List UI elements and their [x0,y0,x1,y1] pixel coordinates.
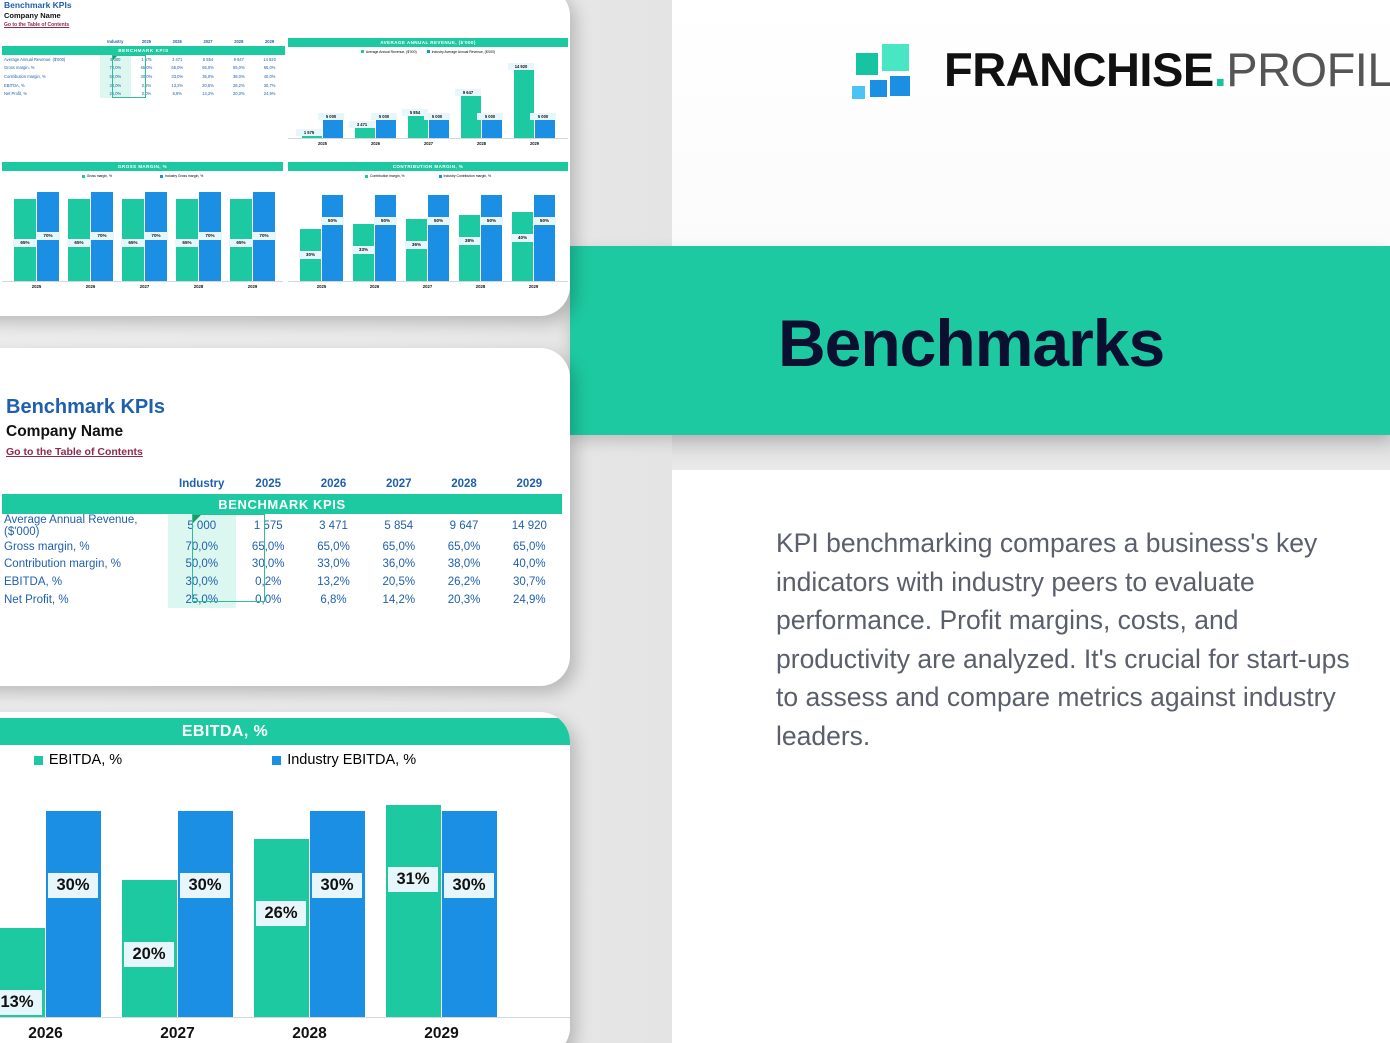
column-header: 2029 [254,38,285,46]
bar-group: 3 4715 000 [355,60,396,138]
year-value: 6,8% [301,591,366,609]
table-banner-cell: BENCHMARK KPIS [2,46,285,55]
year-value: 65,0% [131,64,162,73]
data-label: 26% [256,901,306,926]
bar-group: 65%70% [230,186,275,281]
kpi-table-main: BENCHMARK KPISIndustry202520262027202820… [2,474,562,608]
year-value: 65,0% [236,538,301,556]
data-label: 65% [13,239,37,247]
data-label: 70% [144,232,168,240]
year-value: 40,0% [497,556,562,574]
legend-label: Average Annual Revenue, ($'000) [366,50,417,54]
year-value: 33,0% [162,72,193,81]
data-label: 38% [458,237,481,245]
column-header: 2025 [131,38,162,46]
year-value: 65,0% [162,64,193,73]
chart-revenue-top: AVERAGE ANNUAL REVENUE, ($'000)Average A… [288,38,568,161]
chart-plot-area: 65%70%202565%70%202665%70%202765%70%2028… [2,186,283,281]
year-value: 26,2% [223,81,254,90]
table-header-row: Industry20252026202720282029 [2,474,562,494]
squares-logo-icon [850,40,922,98]
data-label: 30% [444,873,494,898]
column-header: 2028 [431,474,496,494]
legend-item: Industry EBITDA, % [272,752,416,768]
year-value: 20,3% [431,591,496,609]
sheet-title-top: Benchmark KPIs [4,0,72,10]
year-value: 5 854 [193,55,224,64]
column-header: 2026 [162,38,193,46]
x-axis-label: 2026 [0,1025,101,1043]
data-label: 30% [299,251,322,259]
legend-item: EBITDA, % [34,752,122,768]
year-value: 14,2% [366,591,431,609]
bar-industry [322,195,343,281]
year-value: 3 471 [301,514,366,538]
data-label: 50% [427,217,450,225]
bar-company [254,839,309,1017]
sheet-title-main: Benchmark KPIs [6,396,165,419]
legend-item: Industry Average Annual Revenue, ($'000) [427,50,496,54]
year-value: 1 575 [131,55,162,64]
bar-group: 65%70% [176,186,221,281]
data-label: 70% [198,232,222,240]
year-value: 36,0% [366,556,431,574]
brand-name-light: PROFILES [1226,43,1390,96]
data-label: 5 000 [530,113,556,120]
year-value: 14,2% [193,89,224,98]
legend-label: Contribution margin, % [370,174,405,178]
bar-group: 65%70% [122,186,167,281]
slide-card-bottom: EBITDA, %EBITDA, %Industry EBITDA, %0%30… [0,712,570,1043]
year-value: 20,3% [223,89,254,98]
toc-link-top[interactable]: Go to the Table of Contents [4,22,72,28]
industry-value: 25,0% [168,591,236,609]
legend-label: Gross margin, % [87,174,112,178]
chart-contribution-margin-top: CONTRIBUTION MARGIN, %Contribution margi… [288,162,568,297]
bar-group: 13%30% [0,784,101,1017]
bar-group: 36%50% [406,186,449,281]
table-row: Net Profit, %25,0%0,0%6,8%14,2%20,3%24,9… [2,89,285,98]
row-label: Average Annual Revenue, ($'000) [2,55,100,64]
data-label: 31% [388,867,438,892]
x-axis-label: 2027 [122,284,167,289]
year-value: 65,0% [497,538,562,556]
data-label: 5 000 [424,113,450,120]
chart-ebitda-bottom: EBITDA, %EBITDA, %Industry EBITDA, %0%30… [0,718,570,1043]
data-label: 9 647 [455,89,481,96]
slide-card-top: Benchmark KPIs Company Name Go to the Ta… [0,0,570,316]
table-row: EBITDA, %30,0%0,2%13,2%20,5%26,2%30,7% [2,573,562,591]
table-row: Contribution margin, %50,0%30,0%33,0%36,… [2,556,562,574]
data-label: 50% [533,217,556,225]
bar-industry [534,195,555,281]
x-axis-label: 2027 [408,141,449,146]
legend-item: Gross margin, % [82,174,112,178]
x-axis-label: 2028 [176,284,221,289]
table-header-row: Industry20252026202720282029 [2,38,285,46]
year-value: 14 920 [254,55,285,64]
table-row: Net Profit, %25,0%0,0%6,8%14,2%20,3%24,9… [2,591,562,609]
bar-industry [481,195,502,281]
brand-wordmark: FRANCHISE.PROFILES [944,46,1390,93]
legend-item: Industry Contribution margin, % [439,174,492,178]
table-banner-row: BENCHMARK KPIS [2,46,285,55]
table-row: Gross margin, %70,0%65,0%65,0%65,0%65,0%… [2,64,285,73]
bar-group: 26%30% [254,784,365,1017]
column-header: Industry [168,474,236,494]
industry-value: 5 000 [168,514,236,538]
year-value: 5 854 [366,514,431,538]
year-value: 24,9% [254,89,285,98]
industry-value: 30,0% [100,81,131,90]
chart-title: CONTRIBUTION MARGIN, % [288,162,568,171]
top-right-background [672,0,1390,247]
chart-plot-area: 0%30%202513%30%202620%30%202726%30%20283… [0,784,570,1017]
data-label: 50% [374,217,397,225]
x-axis-label: 2028 [254,1025,365,1043]
chart-plot-area: 30%50%202533%50%202636%50%202738%50%2028… [288,186,568,281]
year-value: 1 575 [236,514,301,538]
row-label: Contribution margin, % [2,72,100,81]
row-label: Net Profit, % [2,89,100,98]
year-value: 20,5% [193,81,224,90]
data-label: 50% [321,217,344,225]
data-label: 13% [0,990,42,1015]
year-value: 65,0% [223,64,254,73]
data-label: 5 000 [477,113,503,120]
year-value: 0,0% [236,591,301,609]
year-value: 30,7% [254,81,285,90]
year-value: 40,0% [254,72,285,81]
slide-card-middle: Benchmark KPIs Company Name Go to the Ta… [0,348,570,686]
chart-title: EBITDA, % [0,718,570,745]
legend-item: Industry Gross margin, % [160,174,203,178]
hero-paragraph: KPI benchmarking compares a business's k… [776,524,1356,755]
x-axis-label: 2028 [461,141,502,146]
table-row: Average Annual Revenue, ($'000)5 0001 57… [2,514,562,538]
industry-value: 70,0% [168,538,236,556]
table-banner-cell: BENCHMARK KPIS [2,494,562,514]
bar-company [406,219,427,281]
year-value: 20,5% [366,573,431,591]
brand-name-bold: FRANCHISE [944,43,1214,96]
row-label: Gross margin, % [2,538,168,556]
year-value: 9 647 [431,514,496,538]
column-header: 2027 [193,38,224,46]
x-axis-label: 2026 [355,141,396,146]
brand-logo: FRANCHISE.PROFILES [850,40,1390,98]
column-header: Industry [100,38,131,46]
card-top-content: Benchmark KPIs Company Name Go to the Ta… [0,0,570,316]
sheet-subtitle-top: Company Name [4,11,72,20]
bar-industry [178,811,233,1017]
column-header: 2026 [301,474,366,494]
legend-label: Industry EBITDA, % [287,752,416,768]
bar-group: 5 8545 000 [408,60,449,138]
chart-title: GROSS MARGIN, % [2,162,283,171]
x-axis-label: 2028 [459,284,502,289]
year-value: 36,0% [193,72,224,81]
column-header [2,474,168,494]
bar-industry [428,195,449,281]
benchmark-kpi-table: BENCHMARK KPISIndustry202520262027202820… [2,474,562,608]
data-label: 30% [48,873,98,898]
x-axis-label: 2029 [230,284,275,289]
year-value: 13,2% [162,81,193,90]
column-header: 2028 [223,38,254,46]
year-value: 13,2% [301,573,366,591]
benchmark-kpi-table: BENCHMARK KPISIndustry202520262027202820… [2,38,285,98]
bar-group: 1 5755 000 [302,60,343,138]
data-label: 5 000 [371,113,397,120]
year-value: 65,0% [366,538,431,556]
card-bottom-content: EBITDA, %EBITDA, %Industry EBITDA, %0%30… [0,712,570,1043]
row-label: EBITDA, % [2,573,168,591]
legend-label: Industry Average Annual Revenue, ($'000) [432,50,496,54]
data-label: 65% [67,239,91,247]
year-value: 30,0% [236,556,301,574]
table-row: Contribution margin, %50,0%30,0%33,0%36,… [2,72,285,81]
bar-company [512,212,533,281]
kpi-table-top: BENCHMARK KPISIndustry202520262027202820… [2,38,285,98]
year-value: 30,0% [131,72,162,81]
bar-group: 14 9205 000 [514,60,555,138]
data-label: 3 471 [349,121,375,128]
data-label: 33% [352,246,375,254]
card-middle-content: Benchmark KPIs Company Name Go to the Ta… [0,348,570,686]
x-axis-label: 2025 [302,141,343,146]
column-header: 2029 [497,474,562,494]
year-value: 9 647 [223,55,254,64]
data-label: 30% [312,873,362,898]
legend-label: Industry Contribution margin, % [444,174,492,178]
legend-label: Industry Gross margin, % [165,174,203,178]
x-axis-label: 2025 [14,284,59,289]
row-label: Contribution margin, % [2,556,168,574]
data-label: 1 575 [296,129,322,136]
table-row: EBITDA, %30,0%0,2%13,2%20,5%26,2%30,7% [2,81,285,90]
chart-gross-margin-top: GROSS MARGIN, %Gross margin, %Industry G… [2,162,283,297]
bar-group: 38%50% [459,186,502,281]
row-label: Gross margin, % [2,64,100,73]
legend-item: Contribution margin, % [365,174,405,178]
data-label: 40% [511,234,534,242]
bar-company [514,63,534,138]
bar-group: 40%50% [512,186,555,281]
data-label: 70% [90,232,114,240]
x-axis-label: 2026 [353,284,396,289]
bar-industry [442,811,497,1017]
cell-comment-marker [113,56,117,60]
year-value: 38,0% [431,556,496,574]
year-value: 38,0% [223,72,254,81]
bar-group: 20%30% [122,784,233,1017]
bar-group: 9 6475 000 [461,60,502,138]
page-title: Benchmarks [778,305,1164,381]
data-label: 14 920 [508,63,534,70]
year-value: 24,9% [497,591,562,609]
year-value: 3 471 [162,55,193,64]
brand-name-dot: . [1214,43,1227,96]
bar-group: 33%50% [353,186,396,281]
toc-link-main[interactable]: Go to the Table of Contents [6,446,165,458]
bar-group: 65%70% [68,186,113,281]
table-row: Gross margin, %70,0%65,0%65,0%65,0%65,0%… [2,538,562,556]
cell-comment-marker [193,515,201,523]
chart-legend: Average Annual Revenue, ($'000)Industry … [288,47,568,56]
column-header [2,38,100,46]
bar-company [459,215,480,281]
slide-root: FRANCHISE.PROFILES Benchmarks KPI benchm… [0,0,1390,1043]
bar-company [386,805,441,1017]
chart-legend: EBITDA, %Industry EBITDA, % [0,745,570,775]
legend-label: EBITDA, % [49,752,122,768]
x-axis-label: 2027 [406,284,449,289]
column-header: 2027 [366,474,431,494]
bar-industry [310,811,365,1017]
data-label: 65% [175,239,199,247]
industry-value: 70,0% [100,64,131,73]
year-value: 0,0% [131,89,162,98]
bar-industry [375,195,396,281]
chart-plot-area: 1 5755 00020253 4715 00020265 8545 00020… [288,60,568,138]
industry-value: 25,0% [100,89,131,98]
year-value: 65,0% [254,64,285,73]
row-label: EBITDA, % [2,81,100,90]
chart-legend: Contribution margin, %Industry Contribut… [288,171,568,181]
data-label: 5 000 [318,113,344,120]
data-label: 65% [229,239,253,247]
year-value: 30,7% [497,573,562,591]
x-axis-label: 2029 [514,141,555,146]
year-value: 0,2% [131,81,162,90]
table-row: Average Annual Revenue, ($'000)5 0001 57… [2,55,285,64]
bar-group: 30%50% [300,186,343,281]
data-label: 70% [252,232,276,240]
data-label: 20% [124,942,174,967]
x-axis-label: 2025 [300,284,343,289]
year-value: 65,0% [193,64,224,73]
sheet-subtitle-main: Company Name [6,423,165,441]
bar-industry [46,811,101,1017]
chart-legend: Gross margin, %Industry Gross margin, % [2,171,283,181]
industry-value: 30,0% [168,573,236,591]
year-value: 33,0% [301,556,366,574]
legend-item: Average Annual Revenue, ($'000) [361,50,417,54]
row-label: Average Annual Revenue, ($'000) [2,514,168,538]
x-axis-label: 2029 [512,284,555,289]
bar-group: 65%70% [14,186,59,281]
year-value: 6,8% [162,89,193,98]
year-value: 14 920 [497,514,562,538]
x-axis-label: 2026 [68,284,113,289]
data-label: 70% [36,232,60,240]
data-label: 36% [405,241,428,249]
industry-value: 50,0% [168,556,236,574]
chart-title: AVERAGE ANNUAL REVENUE, ($'000) [288,38,568,47]
data-label: 30% [180,873,230,898]
x-axis-label: 2027 [122,1025,233,1043]
year-value: 26,2% [431,573,496,591]
industry-value: 50,0% [100,72,131,81]
table-banner-row: BENCHMARK KPIS [2,494,562,514]
column-header: 2025 [236,474,301,494]
year-value: 65,0% [431,538,496,556]
x-axis-label: 2029 [386,1025,497,1043]
data-label: 65% [121,239,145,247]
year-value: 0,2% [236,573,301,591]
data-label: 50% [480,217,503,225]
year-value: 65,0% [301,538,366,556]
row-label: Net Profit, % [2,591,168,609]
bar-group: 31%30% [386,784,497,1017]
